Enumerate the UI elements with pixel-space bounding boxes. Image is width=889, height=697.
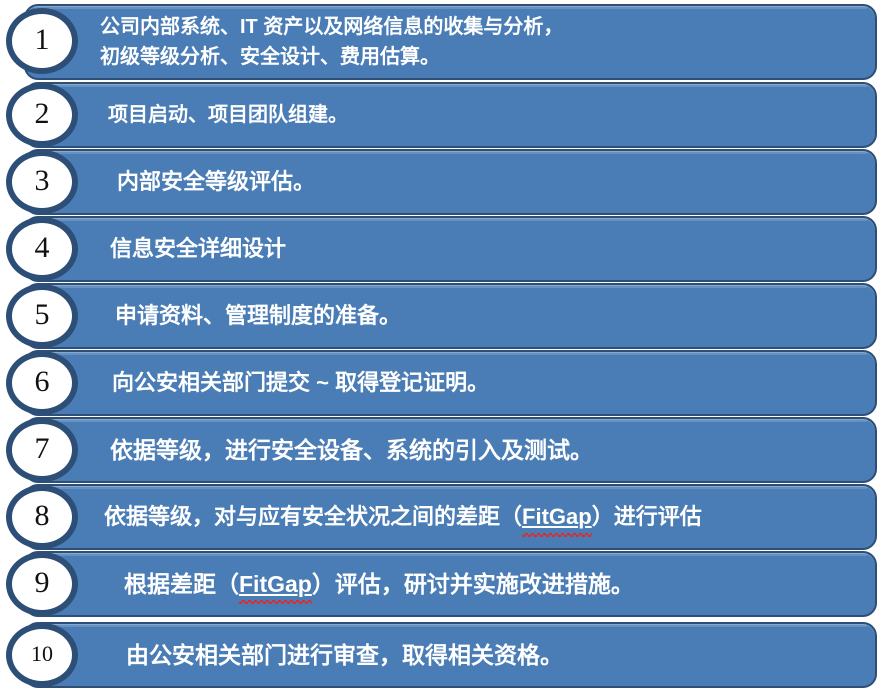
step-number-label-2: 2 <box>35 99 50 129</box>
step-number-badge-10: 10 <box>6 623 78 687</box>
step-row-6: 6 向公安相关部门提交 ~ 取得登记证明。 <box>0 350 889 416</box>
step-row-7: 7 依据等级，进行安全设备、系统的引入及测试。 <box>0 417 889 483</box>
step-number-badge-6: 6 <box>6 351 78 415</box>
step-row-10: 10 由公安相关部门进行审查，取得相关资格。 <box>0 622 889 688</box>
step-text-5: 申请资料、管理制度的准备。 <box>115 283 875 349</box>
step-number-badge-1: 1 <box>6 8 78 74</box>
step-row-8: 8 依据等级，对与应有安全状况之间的差距（FitGap）进行评估 <box>0 484 889 550</box>
step-text-line-6a: 向公安相关部门提交 ~ 取得登记证明。 <box>112 368 875 398</box>
step-number-badge-9: 9 <box>6 552 78 616</box>
step-number-badge-7: 7 <box>6 418 78 482</box>
step-text-line-10a: 由公安相关部门进行审查，取得相关资格。 <box>126 640 875 670</box>
spellcheck-word-fitgap-8[interactable]: FitGap <box>522 502 592 532</box>
step-text-line-4a: 信息安全详细设计 <box>110 234 875 264</box>
step-text-line-8a: 依据等级，对与应有安全状况之间的差距（FitGap）进行评估 <box>104 502 875 532</box>
step-row-5: 5 申请资料、管理制度的准备。 <box>0 283 889 349</box>
step-row-4: 4 信息安全详细设计 <box>0 216 889 282</box>
step-text-7: 依据等级，进行安全设备、系统的引入及测试。 <box>110 417 875 483</box>
step-text-line-9a: 根据差距（FitGap）评估，研讨并实施改进措施。 <box>124 569 875 599</box>
process-flow-diagram: 1 公司内部系统、IT 资产以及网络信息的收集与分析， 初级等级分析、安全设计、… <box>0 0 889 697</box>
step-text-3: 内部安全等级评估。 <box>117 149 875 215</box>
step-text-2: 项目启动、项目团队组建。 <box>108 82 875 148</box>
step-number-label-3: 3 <box>35 166 50 196</box>
step-row-2: 2 项目启动、项目团队组建。 <box>0 82 889 148</box>
step-number-badge-2: 2 <box>6 83 78 147</box>
step-text-line-2a: 项目启动、项目团队组建。 <box>108 101 875 129</box>
step-text-8-prefix: 依据等级，对与应有安全状况之间的差距（ <box>104 504 522 529</box>
step-text-line-1b: 初级等级分析、安全设计、费用估算。 <box>100 42 875 72</box>
step-number-badge-5: 5 <box>6 284 78 348</box>
step-number-label-7: 7 <box>35 434 50 464</box>
step-number-label-10: 10 <box>31 643 53 665</box>
step-text-line-1a: 公司内部系统、IT 资产以及网络信息的收集与分析， <box>100 12 875 42</box>
step-row-3: 3 内部安全等级评估。 <box>0 149 889 215</box>
step-text-6: 向公安相关部门提交 ~ 取得登记证明。 <box>112 350 875 416</box>
step-text-8: 依据等级，对与应有安全状况之间的差距（FitGap）进行评估 <box>104 484 875 550</box>
spellcheck-word-fitgap-9[interactable]: FitGap <box>239 569 312 599</box>
step-text-line-5a: 申请资料、管理制度的准备。 <box>115 301 875 331</box>
step-number-badge-8: 8 <box>6 485 78 549</box>
step-number-label-1: 1 <box>35 25 50 55</box>
step-number-label-4: 4 <box>35 233 50 263</box>
step-text-8-suffix: ）进行评估 <box>592 504 702 529</box>
step-number-badge-4: 4 <box>6 217 78 281</box>
step-text-1: 公司内部系统、IT 资产以及网络信息的收集与分析， 初级等级分析、安全设计、费用… <box>100 4 875 80</box>
step-row-1: 1 公司内部系统、IT 资产以及网络信息的收集与分析， 初级等级分析、安全设计、… <box>0 4 889 80</box>
step-number-label-9: 9 <box>35 568 50 598</box>
step-number-badge-3: 3 <box>6 150 78 214</box>
step-text-9: 根据差距（FitGap）评估，研讨并实施改进措施。 <box>124 551 875 617</box>
step-text-line-7a: 依据等级，进行安全设备、系统的引入及测试。 <box>110 435 875 465</box>
step-text-4: 信息安全详细设计 <box>110 216 875 282</box>
step-number-label-8: 8 <box>35 501 50 531</box>
step-text-9-prefix: 根据差距（ <box>124 571 239 597</box>
step-text-line-3a: 内部安全等级评估。 <box>117 167 875 197</box>
step-number-label-5: 5 <box>35 300 50 330</box>
step-text-9-suffix: ）评估，研讨并实施改进措施。 <box>312 571 634 597</box>
step-text-10: 由公安相关部门进行审查，取得相关资格。 <box>126 622 875 688</box>
step-row-9: 9 根据差距（FitGap）评估，研讨并实施改进措施。 <box>0 551 889 617</box>
step-number-label-6: 6 <box>35 367 50 397</box>
